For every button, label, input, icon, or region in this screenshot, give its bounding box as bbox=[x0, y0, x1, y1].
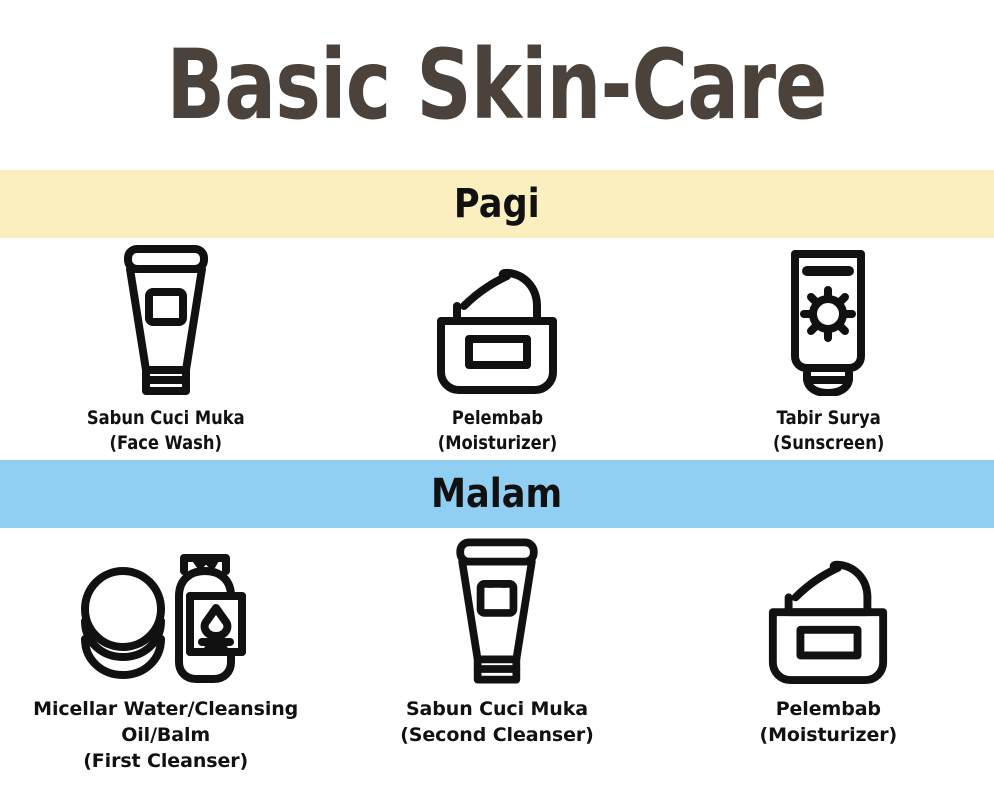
face-wash-tube-icon bbox=[105, 244, 227, 396]
product-icon-wrapper bbox=[773, 244, 883, 396]
product-caption: Sabun Cuci Muka (Face Wash) bbox=[74, 406, 258, 456]
skincare-infographic: Basic Skin-Care Pagi Sabun Cuci Muka bbox=[0, 0, 994, 803]
moisturizer-jar-icon bbox=[759, 556, 897, 686]
product-name-en: (Second Cleanser) bbox=[400, 722, 594, 748]
product-first-cleanser[interactable]: Micellar Water/Cleansing Oil/Balm (First… bbox=[16, 536, 316, 774]
product-icon-wrapper bbox=[427, 244, 567, 396]
product-caption: Tabir Surya (Sunscreen) bbox=[764, 406, 893, 456]
section-banner-label-pagi: Pagi bbox=[454, 184, 540, 224]
page-title: Basic Skin-Care bbox=[167, 37, 827, 133]
product-name-id: Micellar Water/Cleansing bbox=[33, 696, 298, 722]
face-wash-tube-icon bbox=[438, 536, 556, 686]
section-banner-malam: Malam bbox=[0, 460, 994, 528]
product-sunscreen[interactable]: Tabir Surya (Sunscreen) bbox=[678, 244, 978, 456]
product-caption: Pelembab (Moisturizer) bbox=[759, 696, 897, 748]
product-face-wash[interactable]: Sabun Cuci Muka (Face Wash) bbox=[16, 244, 316, 456]
sunscreen-tube-icon bbox=[773, 244, 883, 396]
product-moisturizer-morning[interactable]: Pelembab (Moisturizer) bbox=[347, 244, 647, 456]
product-name-en: (Face Wash) bbox=[87, 431, 245, 456]
product-name-id: Sabun Cuci Muka bbox=[87, 406, 245, 431]
cotton-pads-and-bottle-icon bbox=[66, 536, 266, 686]
product-caption: Sabun Cuci Muka (Second Cleanser) bbox=[400, 696, 594, 748]
product-icon-wrapper bbox=[438, 536, 556, 686]
product-name-en: (Moisturizer) bbox=[759, 722, 897, 748]
product-moisturizer-night[interactable]: Pelembab (Moisturizer) bbox=[678, 536, 978, 748]
product-icon-wrapper bbox=[105, 244, 227, 396]
moisturizer-jar-icon bbox=[427, 264, 567, 396]
product-name-en: (Moisturizer) bbox=[437, 431, 557, 456]
title-area: Basic Skin-Care bbox=[0, 0, 994, 170]
product-name-id-line2: Oil/Balm bbox=[33, 722, 298, 748]
section-banner-label-malam: Malam bbox=[431, 474, 562, 514]
product-name-id: Pelembab bbox=[437, 406, 557, 431]
product-name-id: Tabir Surya bbox=[773, 406, 884, 431]
product-row-pagi: Sabun Cuci Muka (Face Wash) Pelembab (Mo… bbox=[0, 238, 994, 460]
product-name-id: Pelembab bbox=[759, 696, 897, 722]
product-name-en: (Sunscreen) bbox=[773, 431, 884, 456]
product-icon-wrapper bbox=[66, 536, 266, 686]
product-icon-wrapper bbox=[759, 536, 897, 686]
product-name-id: Sabun Cuci Muka bbox=[400, 696, 594, 722]
product-name-en: (First Cleanser) bbox=[33, 748, 298, 774]
product-caption: Micellar Water/Cleansing Oil/Balm (First… bbox=[33, 696, 298, 774]
product-caption: Pelembab (Moisturizer) bbox=[428, 406, 567, 456]
section-banner-pagi: Pagi bbox=[0, 170, 994, 238]
product-second-cleanser[interactable]: Sabun Cuci Muka (Second Cleanser) bbox=[347, 536, 647, 748]
product-row-malam: Micellar Water/Cleansing Oil/Balm (First… bbox=[0, 528, 994, 788]
